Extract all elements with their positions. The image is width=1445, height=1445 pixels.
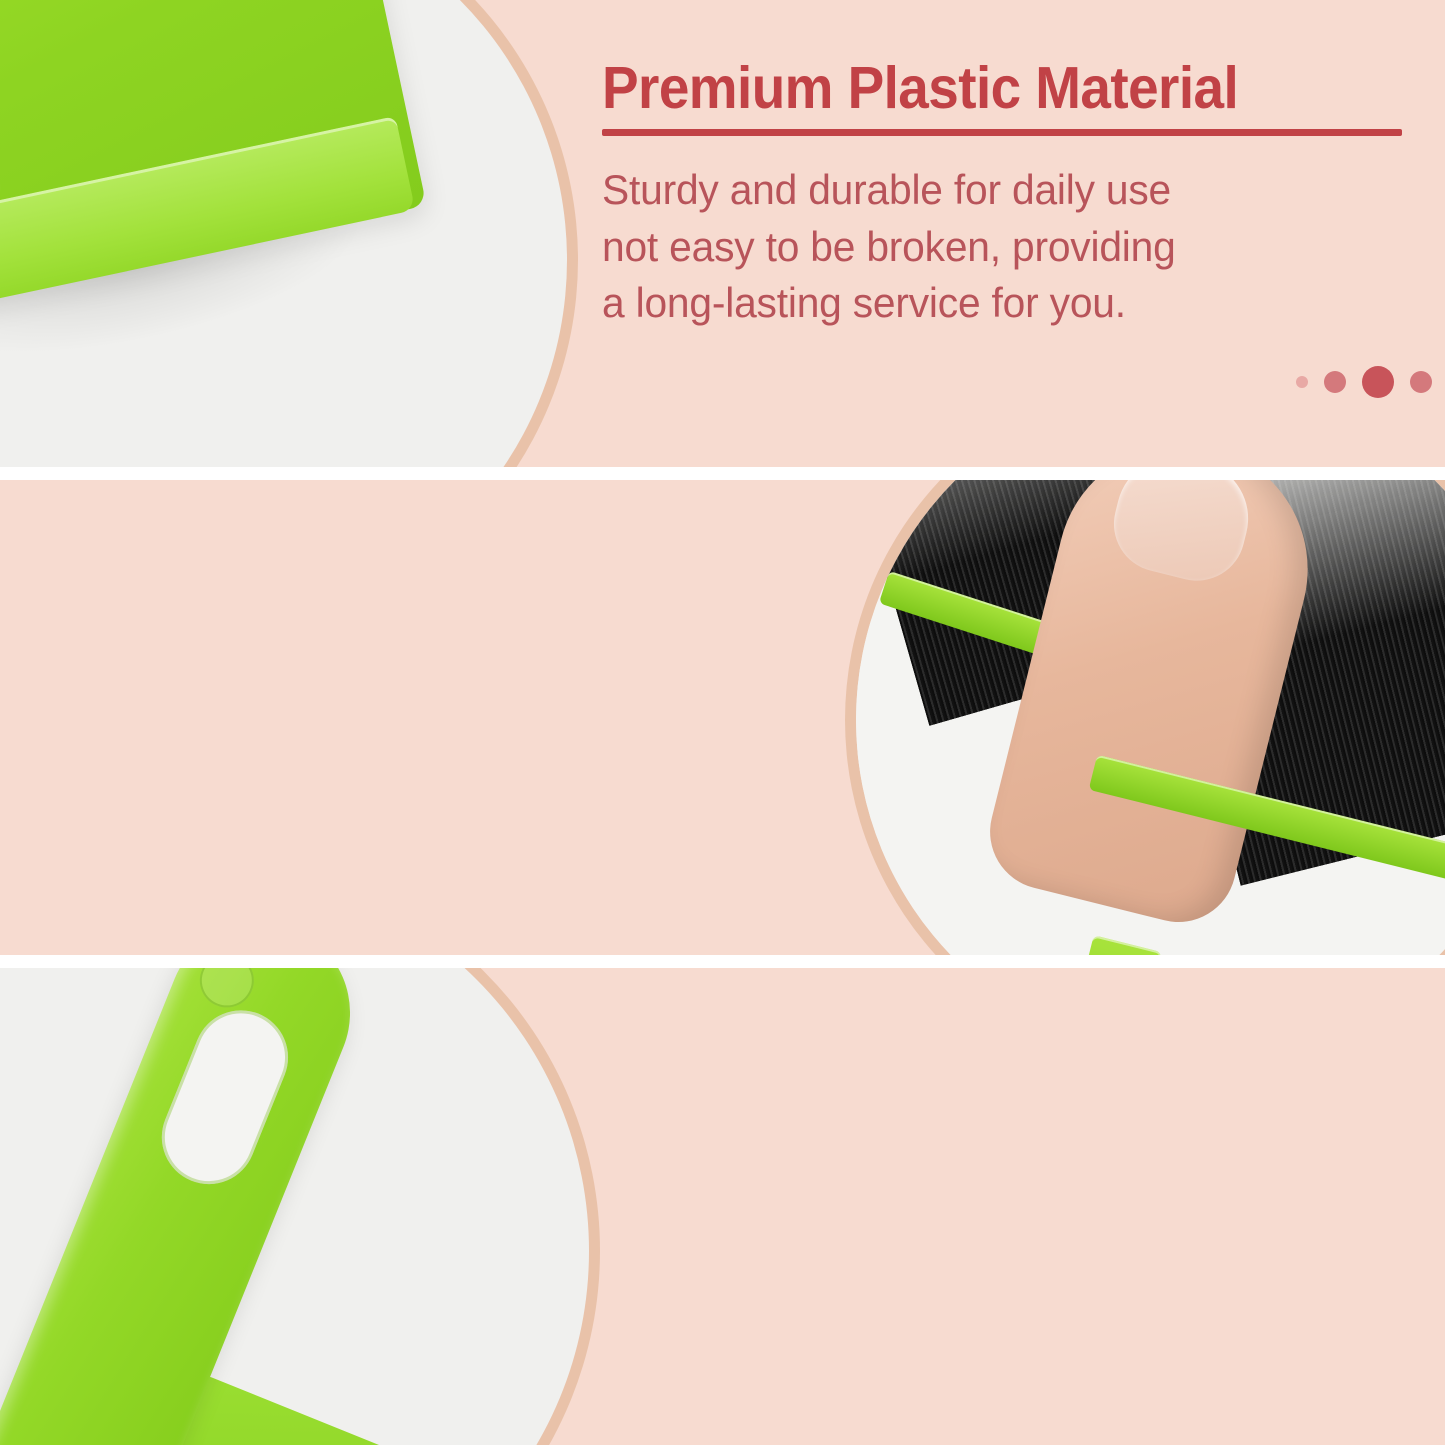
brush-handle-stub	[1050, 935, 1161, 955]
feature-body-line-1-3: a long-lasting service for you.	[602, 275, 1378, 331]
handle-hanging-hole	[148, 996, 303, 1198]
ornament-dot	[1296, 376, 1308, 388]
feature-body-line-1-2: not easy to be broken, providing	[602, 219, 1378, 275]
panel-divider-2	[0, 955, 1445, 968]
feature-headline-1: Premium Plastic Material	[602, 58, 1346, 119]
photo-circle-mask	[856, 480, 1445, 955]
feature-panel-high-density-bristles: High Density Bristles Slim PET silk tigh…	[0, 480, 1445, 955]
feature-panel-premium-plastic-material: Premium Plastic Material Sturdy and dura…	[0, 0, 1445, 467]
dot-ornament-1	[1296, 366, 1445, 398]
brush-scene	[856, 480, 1445, 955]
panel-divider-1	[0, 467, 1445, 480]
thumb-nail	[1104, 480, 1261, 591]
ornament-dot	[1362, 366, 1394, 398]
feature-panel-easy-grip-handle: Easy-Grip Handle Allows you to grasp com…	[0, 968, 1445, 1445]
photo-circle-mask	[0, 968, 589, 1445]
infographic-sheet: Premium Plastic Material Sturdy and dura…	[0, 0, 1445, 1445]
headline-underline-1	[602, 129, 1402, 136]
handle-rivet	[192, 968, 262, 1016]
product-photo-handle	[0, 968, 600, 1445]
ornament-dot	[1410, 371, 1432, 393]
product-photo-dustpan	[0, 0, 578, 467]
feature-body-line-1-1: Sturdy and durable for daily use	[602, 162, 1378, 218]
photo-circle-mask	[0, 0, 567, 467]
product-photo-bristles	[845, 480, 1445, 955]
handle-body	[0, 968, 377, 1445]
feature-text-block-1: Premium Plastic Material Sturdy and dura…	[602, 58, 1402, 331]
ornament-dot	[1324, 371, 1346, 393]
